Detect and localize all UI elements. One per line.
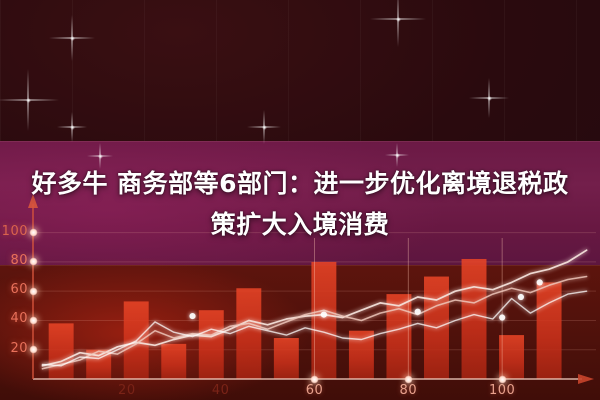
headline-line-1: 好多牛 商务部等6部门：进一步优化离境退税政: [0, 163, 600, 204]
band-bottom-edge: [0, 265, 600, 266]
band-top-edge: [0, 141, 600, 142]
thumbnail-image: 2040608010020406080100 好多牛 商务部等6部门：进一步优化…: [0, 0, 600, 400]
headline: 好多牛 商务部等6部门：进一步优化离境退税政 策扩大入境消费: [0, 163, 600, 245]
headline-line-2: 策扩大入境消费: [0, 204, 600, 245]
red-zone: [0, 265, 600, 400]
